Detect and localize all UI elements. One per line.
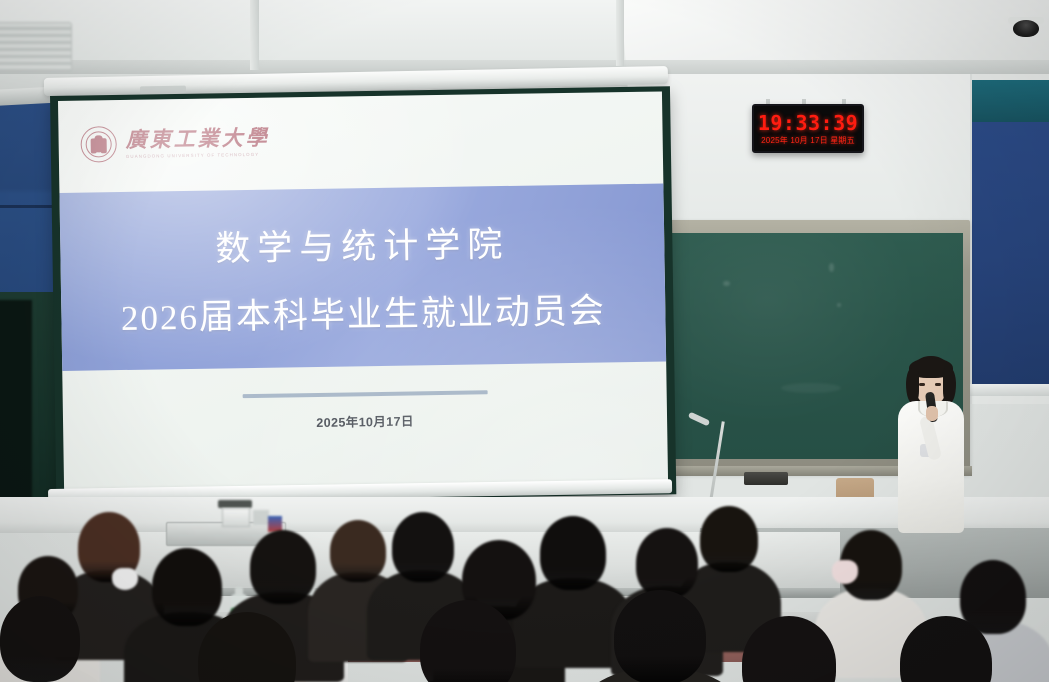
presenter-hair-right bbox=[943, 368, 956, 404]
clock-time: 19:33:39 bbox=[758, 113, 858, 133]
audience-head bbox=[392, 512, 454, 582]
audience-head bbox=[330, 520, 386, 582]
university-name-chinese: 廣東工業大學 bbox=[125, 127, 269, 150]
clock-date: 2025年 10月 17日 星期五 bbox=[761, 137, 855, 145]
presenter-eye-left bbox=[919, 383, 925, 386]
audience-head bbox=[0, 596, 80, 682]
wall-equipment-box bbox=[222, 508, 250, 527]
slide-title-line-1: 数学与统计学院 bbox=[215, 215, 510, 271]
presenter bbox=[884, 356, 976, 532]
digital-led-clock: 19:33:39 2025年 10月 17日 星期五 bbox=[752, 104, 864, 153]
chalk-mark bbox=[723, 281, 730, 286]
university-logo: 廣東工業大學 GUANGDONG UNIVERSITY OF TECHNOLOG… bbox=[80, 124, 270, 163]
presenter-hair-left bbox=[906, 368, 919, 404]
audience-head bbox=[540, 516, 606, 590]
chalk-mark bbox=[837, 303, 841, 307]
lecture-hall-photo: 廣東工業大學 GUANGDONG UNIVERSITY OF TECHNOLOG… bbox=[0, 0, 1049, 682]
left-window-blind bbox=[0, 100, 58, 298]
slide-title-line-2: 2026届本科毕业生就业动员会 bbox=[120, 282, 606, 341]
dome-camera-icon bbox=[1013, 20, 1039, 37]
audience-head bbox=[152, 548, 222, 626]
university-seal-icon bbox=[80, 126, 117, 163]
slide-title-band: 数学与统计学院 2026届本科毕业生就业动员会 bbox=[59, 184, 666, 371]
ceiling-beam-vertical-left bbox=[250, 0, 259, 70]
slide-footer: 2025年10月17日 bbox=[62, 361, 668, 496]
right-window-valance bbox=[972, 80, 1049, 124]
chalk-mark bbox=[781, 383, 841, 393]
wall-equipment-box-2 bbox=[253, 510, 269, 525]
face-mask bbox=[112, 568, 138, 590]
university-logo-text: 廣東工業大學 GUANGDONG UNIVERSITY OF TECHNOLOG… bbox=[125, 127, 269, 158]
ceiling-beam-vertical-right bbox=[616, 0, 624, 66]
slide-header: 廣東工業大學 GUANGDONG UNIVERSITY OF TECHNOLOG… bbox=[58, 92, 663, 193]
audience-head bbox=[250, 530, 316, 604]
presenter-eye-right bbox=[935, 383, 941, 386]
air-conditioner-vent bbox=[0, 22, 72, 72]
projection-screen: 廣東工業大學 GUANGDONG UNIVERSITY OF TECHNOLOG… bbox=[58, 92, 668, 497]
presenter-hand bbox=[926, 406, 938, 421]
right-window-blind bbox=[972, 122, 1049, 384]
wall-equipment-bracket bbox=[218, 500, 252, 508]
left-chalkboard-shadow bbox=[0, 300, 32, 530]
university-name-english: GUANGDONG UNIVERSITY OF TECHNOLOGY bbox=[126, 151, 270, 158]
left-blind-seam bbox=[0, 205, 58, 208]
chalk-mark bbox=[829, 263, 834, 272]
face-mask bbox=[832, 560, 858, 584]
slide-divider-rule bbox=[242, 390, 487, 398]
audience-head bbox=[700, 506, 758, 572]
blackboard-eraser bbox=[744, 472, 788, 485]
audience-head bbox=[636, 528, 698, 598]
audience-head bbox=[614, 590, 706, 682]
slide-date: 2025年10月17日 bbox=[316, 410, 414, 431]
